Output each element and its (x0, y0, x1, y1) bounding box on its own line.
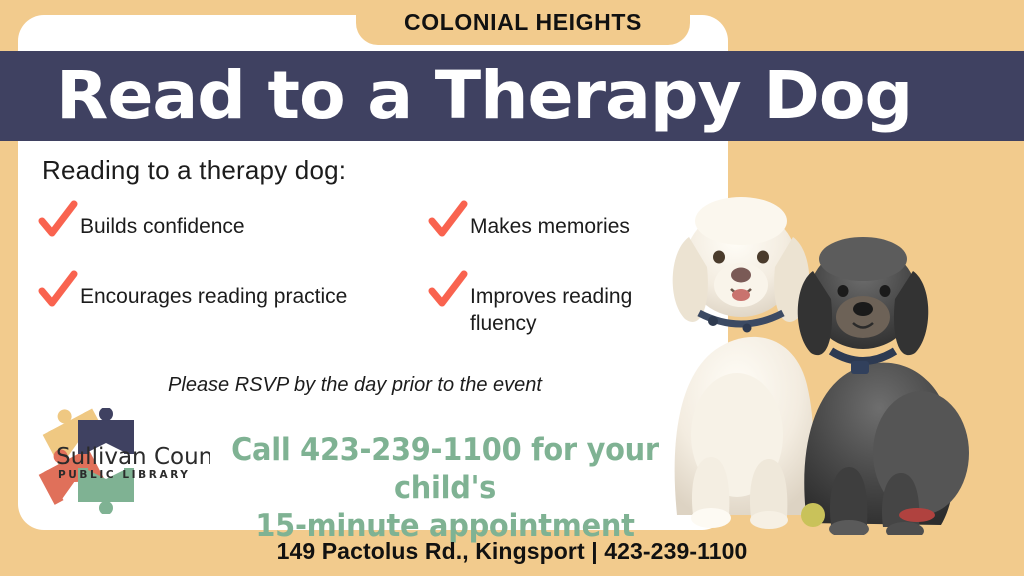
title-bar: Read to a Therapy Dog (0, 51, 1024, 141)
checkmark-icon (38, 270, 78, 310)
poster-canvas: COLONIAL HEIGHTS Read to a Therapy Dog R… (0, 0, 1024, 576)
page-title: Read to a Therapy Dog (56, 63, 912, 129)
call-to-action: Call 423-239-1100 for your child's 15-mi… (222, 432, 668, 545)
checkmark-icon (38, 200, 78, 240)
checkmark-icon (428, 270, 468, 310)
dog-left-cream (673, 197, 814, 529)
branch-tab-label: COLONIAL HEIGHTS (404, 9, 642, 36)
list-item: Builds confidence (38, 208, 428, 241)
logo-name-line2: PUBLIC LIBRARY (58, 469, 191, 481)
therapy-dogs-photo (655, 185, 985, 535)
dog-right-dark (798, 237, 969, 535)
rsvp-note: Please RSVP by the day prior to the even… (0, 374, 710, 397)
list-item-label: Encourages reading practice (80, 278, 347, 311)
list-item: Encourages reading practice (38, 278, 428, 311)
footer-address: 149 Pactolus Rd., Kingsport | 423-239-11… (0, 538, 1024, 565)
list-item-label: Makes memories (470, 208, 630, 241)
open-book-reader-logo-icon: Sullivan County PUBLIC LIBRARY (30, 408, 210, 514)
checkmark-icon (428, 200, 468, 240)
intro-text: Reading to a therapy dog: (42, 155, 346, 186)
branch-tab: COLONIAL HEIGHTS (356, 0, 690, 45)
library-logo: Sullivan County PUBLIC LIBRARY (30, 408, 210, 514)
cta-line-1: Call 423-239-1100 for your child's (222, 432, 668, 508)
logo-name-line1: Sullivan County (56, 444, 210, 470)
list-item-label: Builds confidence (80, 208, 245, 241)
